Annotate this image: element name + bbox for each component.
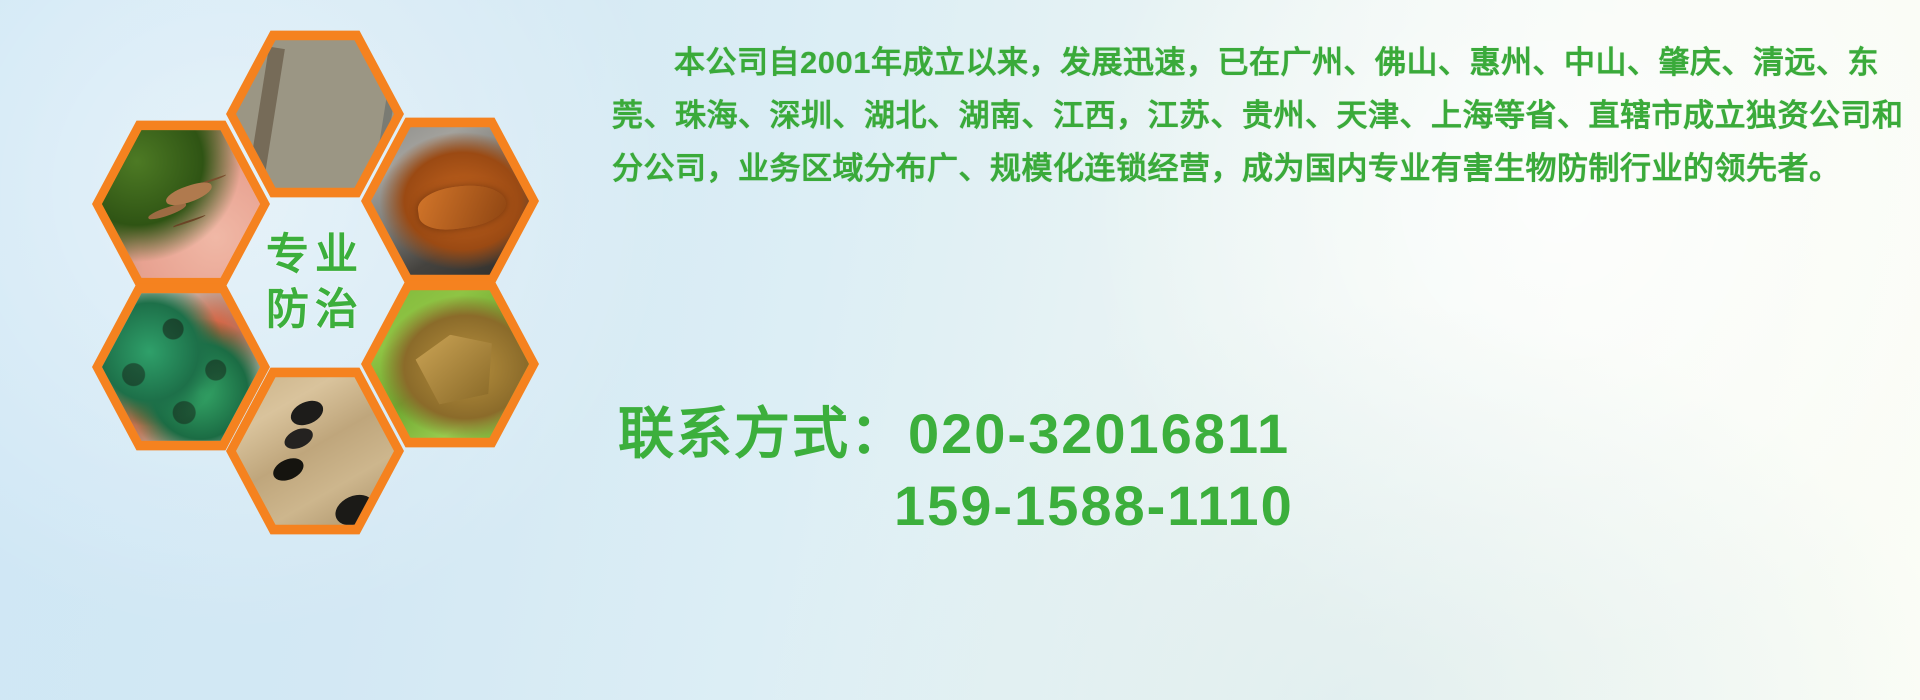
ants-photo xyxy=(236,375,394,527)
slogan-line-1: 专业 xyxy=(266,228,364,283)
flies-photo xyxy=(102,291,260,443)
slogan-line-2: 防治 xyxy=(266,283,364,338)
honeycomb-gallery: 专业 防治 xyxy=(86,12,586,552)
hex-photo-frame-ants xyxy=(236,375,394,527)
contact-secondary-line[interactable]: 159-1588-1110 xyxy=(618,470,1918,542)
stinkbug-photo xyxy=(371,288,529,440)
cockroach-photo xyxy=(371,125,529,277)
rats-photo xyxy=(236,38,394,190)
honeycomb-slogan: 专业 防治 xyxy=(266,228,364,338)
hex-photo-frame-stinkbug xyxy=(371,288,529,440)
contact-block: 联系方式：020-32016811 159-1588-1110 xyxy=(618,398,1918,542)
pest-control-banner: 专业 防治 本公司自2001年成立以来，发展迅速，已在广州、佛山、惠州、中山、肇… xyxy=(0,0,1920,700)
company-intro-paragraph: 本公司自2001年成立以来，发展迅速，已在广州、佛山、惠州、中山、肇庆、清远、东… xyxy=(612,36,1908,195)
mosquito-photo xyxy=(102,128,260,280)
company-intro-block: 本公司自2001年成立以来，发展迅速，已在广州、佛山、惠州、中山、肇庆、清远、东… xyxy=(612,36,1908,195)
contact-primary-line[interactable]: 联系方式：020-32016811 xyxy=(618,398,1918,470)
hex-photo-frame-mosquito xyxy=(102,128,260,280)
hex-photo-frame-rats xyxy=(236,38,394,190)
hex-photo-frame-flies xyxy=(102,291,260,443)
hex-photo-frame-cockroach xyxy=(371,125,529,277)
